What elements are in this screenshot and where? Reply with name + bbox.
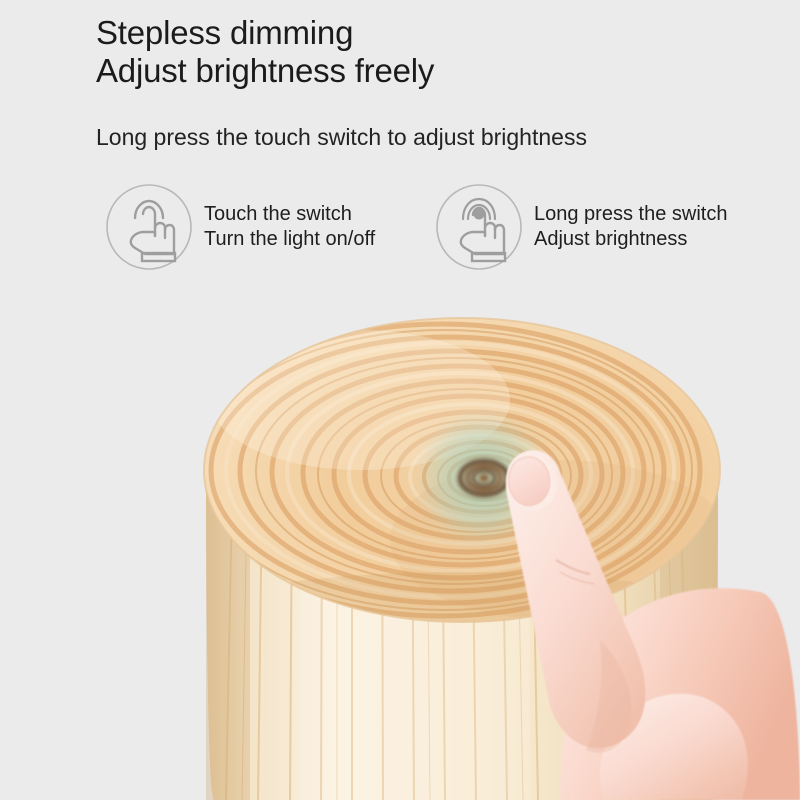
page-title: Stepless dimming Adjust brightness freel… <box>96 14 434 90</box>
subheadline: Long press the touch switch to adjust br… <box>96 123 587 151</box>
wooden-touch-lamp-photo <box>0 0 800 800</box>
headline-line-2: Adjust brightness freely <box>96 52 434 90</box>
hand-long-press-icon <box>434 182 524 272</box>
feature-touch-line-2: Turn the light on/off <box>204 227 375 252</box>
feature-badge-touch-text: Touch the switch Turn the light on/off <box>204 202 375 252</box>
touch-switch-mark[interactable] <box>460 461 508 495</box>
hand-tap-icon <box>104 182 194 272</box>
feature-badges: Touch the switch Turn the light on/off <box>104 182 794 274</box>
feature-long-press-line-2: Adjust brightness <box>534 227 727 252</box>
feature-badge-long-press-text: Long press the switch Adjust brightness <box>534 202 727 252</box>
feature-touch-line-1: Touch the switch <box>204 203 352 225</box>
product-marketing-image: Stepless dimming Adjust brightness freel… <box>0 0 800 800</box>
feature-badge-touch: Touch the switch Turn the light on/off <box>104 182 375 272</box>
headline-line-1: Stepless dimming <box>96 14 353 51</box>
feature-badge-long-press: Long press the switch Adjust brightness <box>434 182 727 272</box>
feature-long-press-line-1: Long press the switch <box>534 203 727 225</box>
